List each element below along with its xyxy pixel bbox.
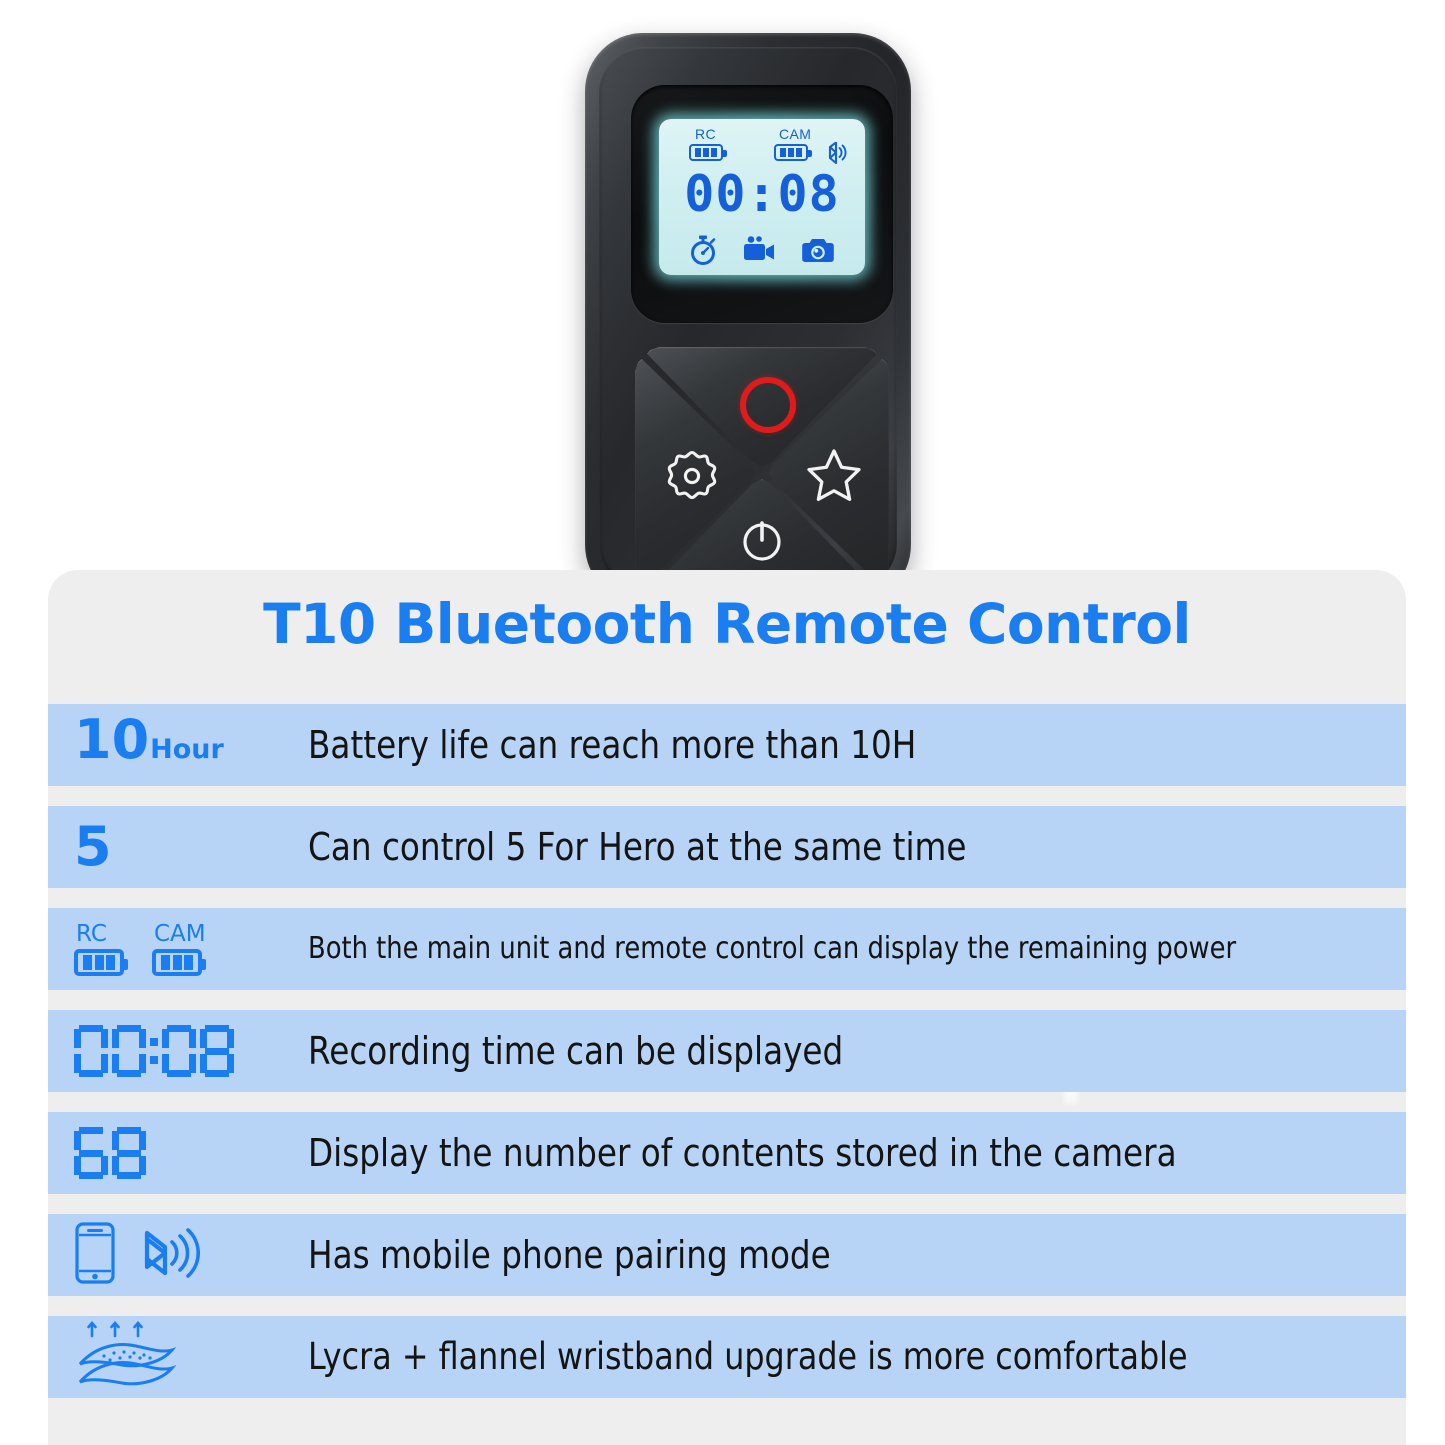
feature-icon-cell bbox=[48, 1010, 308, 1092]
segment-colon bbox=[150, 1025, 158, 1077]
timer-icon bbox=[689, 235, 717, 265]
photo-camera-icon bbox=[801, 236, 835, 264]
lcd-mode-icon-row bbox=[659, 235, 865, 265]
seven-segment-count-icon bbox=[74, 1127, 146, 1179]
button-pad: mode bbox=[635, 347, 889, 599]
list-item: Lycra + flannel wristband upgrade is mor… bbox=[48, 1316, 1406, 1398]
feature-text: Display the number of contents stored in… bbox=[308, 1132, 1252, 1174]
feature-icon-cell: RC CAM bbox=[48, 908, 308, 990]
video-camera-icon bbox=[742, 236, 776, 264]
mobile-phone-icon bbox=[74, 1222, 116, 1289]
cam-battery-icon bbox=[152, 949, 202, 976]
lcd-time-display: 00:08 bbox=[659, 169, 865, 219]
rc-battery-group: RC bbox=[74, 923, 124, 976]
feature-icon-cell: 5 bbox=[48, 806, 308, 888]
device-count-number: 5 bbox=[74, 820, 112, 874]
bluetooth-icon bbox=[823, 142, 847, 164]
remote-body-inner: RC CAM 00:08 bbox=[599, 47, 897, 589]
rc-battery-icon bbox=[74, 949, 124, 976]
feature-text: Has mobile phone pairing mode bbox=[308, 1234, 1252, 1276]
list-item: Recording time can be displayed bbox=[48, 1010, 1406, 1092]
device-count-icon: 5 bbox=[74, 820, 112, 874]
feature-icon-cell: 10Hour bbox=[48, 704, 308, 786]
feature-icon-cell bbox=[48, 1316, 308, 1398]
feature-text: Can control 5 For Hero at the same time bbox=[308, 826, 1252, 868]
lcd-screen: RC CAM 00:08 bbox=[659, 119, 865, 275]
list-item: RC CAM Both the main unit and remote con… bbox=[48, 908, 1406, 990]
segment-digit-0 bbox=[74, 1025, 108, 1077]
cam-battery-group: CAM bbox=[152, 923, 206, 976]
segment-digit-0b bbox=[112, 1025, 146, 1077]
remote-control-device: RC CAM 00:08 bbox=[585, 33, 911, 603]
segment-digit-6 bbox=[74, 1127, 108, 1179]
list-item: 10Hour Battery life can reach more than … bbox=[48, 704, 1406, 786]
battery-pair-icon: RC CAM bbox=[74, 923, 206, 976]
feature-icon-cell bbox=[48, 1214, 308, 1296]
lcd-cam-label: CAM bbox=[779, 126, 811, 142]
segment-digit-0c bbox=[162, 1025, 196, 1077]
feature-icon-cell bbox=[48, 1112, 308, 1194]
lcd-cam-battery-icon bbox=[774, 144, 808, 161]
seven-segment-time-icon bbox=[74, 1025, 234, 1077]
feature-list: 10Hour Battery life can reach more than … bbox=[48, 704, 1406, 1418]
product-photo: RC CAM 00:08 bbox=[0, 0, 1445, 620]
bluetooth-signal-icon bbox=[134, 1224, 200, 1287]
lcd-rc-battery-icon bbox=[689, 144, 723, 161]
page-title: T10 Bluetooth Remote Control bbox=[48, 592, 1406, 656]
feature-text: Battery life can reach more than 10H bbox=[308, 724, 1252, 766]
feature-card: T10 Bluetooth Remote Control 10Hour Batt… bbox=[48, 570, 1406, 1445]
hours-number: 10 bbox=[74, 713, 149, 767]
phone-pairing-icon bbox=[74, 1222, 200, 1289]
feature-text: Both the main unit and remote control ca… bbox=[308, 928, 1252, 970]
segment-digit-8b bbox=[112, 1127, 146, 1179]
breathable-fabric-icon bbox=[74, 1320, 194, 1394]
hours-unit: Hour bbox=[150, 723, 224, 777]
lcd-status-bar: RC CAM bbox=[659, 126, 865, 170]
segment-digit-8 bbox=[200, 1025, 234, 1077]
feature-text: Recording time can be displayed bbox=[308, 1030, 1252, 1072]
list-item: 5 Can control 5 For Hero at the same tim… bbox=[48, 806, 1406, 888]
list-item: Display the number of contents stored in… bbox=[48, 1112, 1406, 1194]
cam-label: CAM bbox=[154, 923, 206, 946]
rc-label: RC bbox=[76, 923, 107, 946]
lcd-rc-label: RC bbox=[695, 126, 716, 142]
feature-text: Lycra + flannel wristband upgrade is mor… bbox=[308, 1336, 1252, 1378]
lcd-bezel: RC CAM 00:08 bbox=[631, 85, 893, 323]
list-item: Has mobile phone pairing mode bbox=[48, 1214, 1406, 1296]
battery-hours-icon: 10Hour bbox=[74, 713, 224, 777]
